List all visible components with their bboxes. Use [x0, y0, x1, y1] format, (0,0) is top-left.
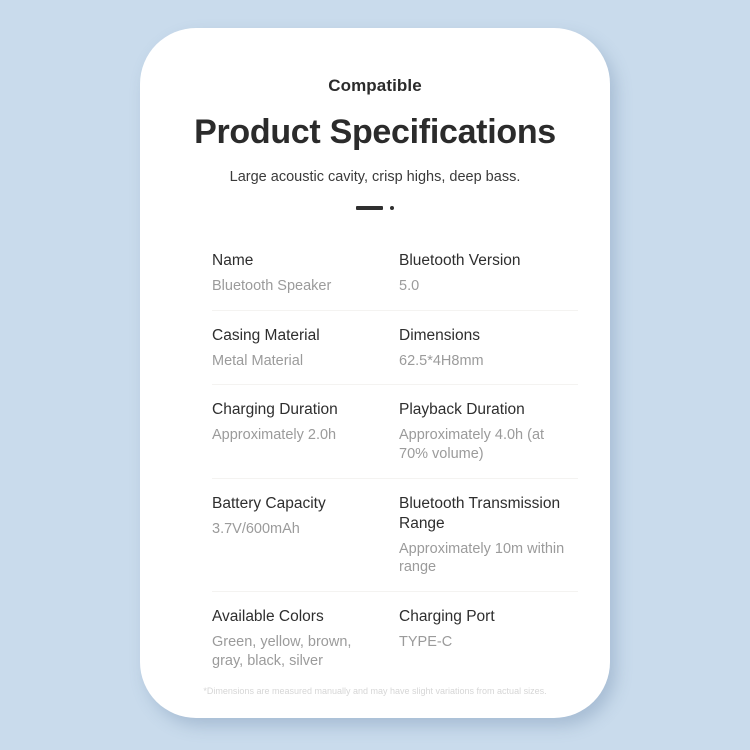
dot-icon — [390, 206, 394, 210]
spec-value: Approximately 10m within range — [399, 540, 568, 578]
spec-cell-casing-material: Casing Material Metal Material — [212, 326, 395, 371]
product-specifications-card: Compatible Product Specifications Large … — [140, 28, 610, 718]
spec-value: Approximately 4.0h (at 70% volume) — [399, 426, 568, 464]
spec-cell-name: Name Bluetooth Speaker — [212, 251, 395, 296]
subtitle-text: Large acoustic cavity, crisp highs, deep… — [140, 169, 610, 186]
spec-value: 3.7V/600mAh — [212, 520, 385, 539]
spec-value: 5.0 — [399, 277, 568, 296]
spec-label: Casing Material — [212, 326, 385, 346]
spec-label: Bluetooth Version — [399, 251, 568, 271]
spec-label: Battery Capacity — [212, 494, 385, 514]
spec-cell-bluetooth-version: Bluetooth Version 5.0 — [395, 251, 578, 296]
table-row: Battery Capacity 3.7V/600mAh Bluetooth T… — [212, 494, 578, 592]
spec-value: TYPE-C — [399, 633, 568, 652]
spec-label: Charging Duration — [212, 400, 385, 420]
table-row: Charging Duration Approximately 2.0h Pla… — [212, 400, 578, 479]
table-row: Name Bluetooth Speaker Bluetooth Version… — [212, 251, 578, 311]
spec-value: Bluetooth Speaker — [212, 277, 385, 296]
spec-value: Green, yellow, brown, gray, black, silve… — [212, 633, 385, 671]
spec-cell-charging-duration: Charging Duration Approximately 2.0h — [212, 400, 395, 464]
page-title: Product Specifications — [140, 115, 610, 151]
dash-icon — [356, 206, 383, 210]
spec-value: Approximately 2.0h — [212, 426, 385, 445]
table-row: Available Colors Green, yellow, brown, g… — [212, 607, 578, 671]
spec-value: 62.5*4H8mm — [399, 352, 568, 371]
spec-label: Bluetooth Transmission Range — [399, 494, 568, 534]
page-background: Compatible Product Specifications Large … — [0, 0, 750, 750]
spec-cell-bluetooth-transmission-range: Bluetooth Transmission Range Approximate… — [395, 494, 578, 577]
table-row: Casing Material Metal Material Dimension… — [212, 326, 578, 386]
eyebrow-text: Compatible — [140, 77, 610, 94]
spec-label: Available Colors — [212, 607, 385, 627]
specifications-table: Name Bluetooth Speaker Bluetooth Version… — [140, 251, 610, 671]
spec-cell-battery-capacity: Battery Capacity 3.7V/600mAh — [212, 494, 395, 577]
spec-label: Dimensions — [399, 326, 568, 346]
spec-cell-dimensions: Dimensions 62.5*4H8mm — [395, 326, 578, 371]
divider-ornament — [140, 203, 610, 213]
spec-cell-available-colors: Available Colors Green, yellow, brown, g… — [212, 607, 395, 671]
spec-cell-charging-port: Charging Port TYPE-C — [395, 607, 578, 671]
spec-cell-playback-duration: Playback Duration Approximately 4.0h (at… — [395, 400, 578, 464]
spec-label: Playback Duration — [399, 400, 568, 420]
spec-label: Charging Port — [399, 607, 568, 627]
spec-label: Name — [212, 251, 385, 271]
card-header: Compatible Product Specifications Large … — [140, 28, 610, 213]
footnote-text: *Dimensions are measured manually and ma… — [140, 686, 610, 697]
spec-value: Metal Material — [212, 352, 385, 371]
